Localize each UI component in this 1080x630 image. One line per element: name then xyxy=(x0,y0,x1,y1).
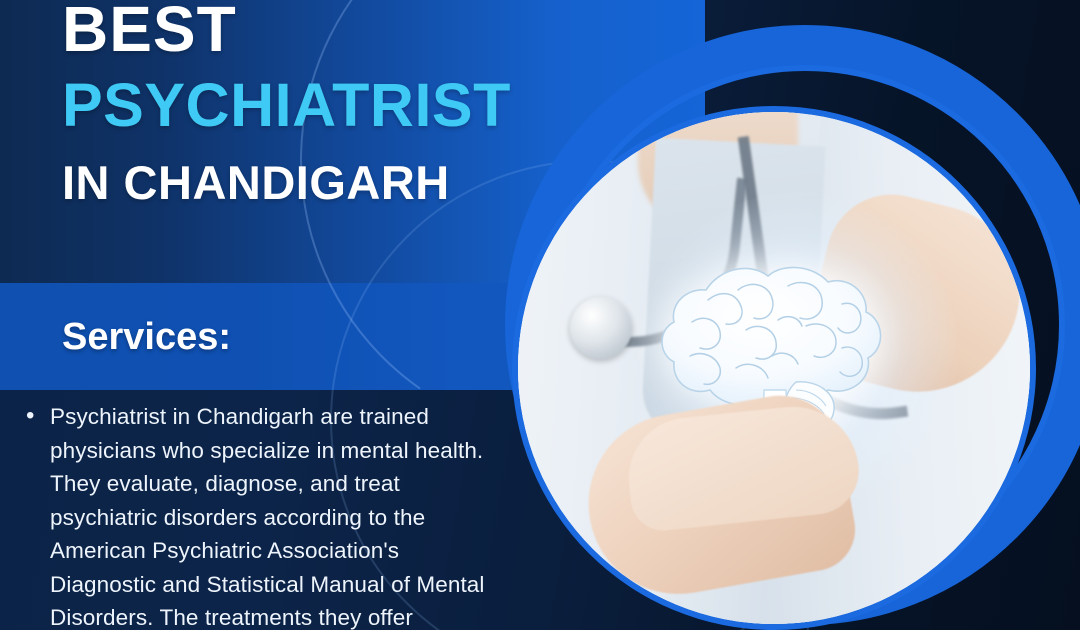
services-heading: Services: xyxy=(62,316,231,359)
services-list: Psychiatrist in Chandigarh are trained p… xyxy=(18,400,488,630)
list-item: Psychiatrist in Chandigarh are trained p… xyxy=(18,400,488,630)
headline-line-best: BEST xyxy=(62,0,702,60)
poster-canvas: BEST PSYCHIATRIST IN CHANDIGARH Services… xyxy=(0,0,1080,630)
stethoscope-bell-icon xyxy=(570,297,632,359)
headline-group: BEST PSYCHIATRIST IN CHANDIGARH xyxy=(62,0,702,213)
headline-line-city: IN CHANDIGARH xyxy=(62,152,702,213)
headline-line-psychiatrist: PSYCHIATRIST xyxy=(62,60,702,152)
